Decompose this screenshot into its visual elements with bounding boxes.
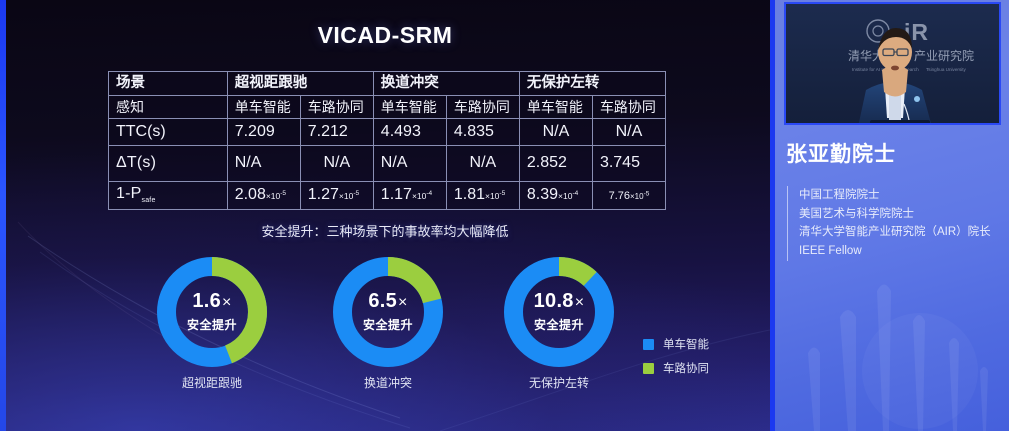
header-cell-perception: 感知: [109, 96, 228, 119]
donut-chart-3: 10.8× 安全提升 无保护左转: [503, 256, 615, 368]
cell-dt-4: N/A: [446, 146, 519, 182]
row-label-delta-t: ΔT(s): [109, 146, 228, 182]
legend-swatch-blue-icon: [643, 339, 654, 350]
psafe-3-times: ×10: [412, 191, 426, 201]
donut-3-blue-arc: [514, 267, 605, 358]
credential-item: 清华大学智能产业研究院（AIR）院长: [799, 223, 991, 242]
speaker-video-tile[interactable]: iR 清华大 产业研究院 Institute for AI Industry R…: [784, 2, 1001, 125]
cell-dt-1: N/A: [227, 146, 300, 182]
results-table: 场景 超视距跟驰 换道冲突 无保护左转 感知 单车智能 车路协同 单车智能 车路…: [108, 71, 666, 210]
cell-ttc-6: N/A: [592, 119, 665, 146]
cell-ttc-2: 7.212: [300, 119, 373, 146]
header-cell-perception-3: 单车智能: [373, 96, 446, 119]
presentation-slide: VICAD-SRM 场景 超视距跟驰 换道冲突 无保护左转 感知 单车智能 车路…: [0, 0, 770, 431]
psafe-4-mantissa: 1.81: [454, 186, 485, 203]
donut-1-caption: 超视距跟驰: [132, 374, 292, 391]
svg-text:Tsinghua University: Tsinghua University: [926, 67, 967, 72]
cell-psafe-1: 2.08×10-5: [227, 182, 300, 210]
header-cell-scenario: 场景: [109, 72, 228, 96]
psafe-4-exp: -5: [499, 190, 505, 197]
psafe-2-exp: -5: [353, 190, 359, 197]
psafe-3-mantissa: 1.17: [381, 186, 412, 203]
header-cell-perception-1: 单车智能: [227, 96, 300, 119]
table-row: ΔT(s) N/A N/A N/A N/A 2.852 3.745: [109, 146, 666, 182]
speaker-name: 张亚勤院士: [786, 138, 896, 168]
header-cell-perception-6: 车路协同: [592, 96, 665, 119]
cell-ttc-3: 4.493: [373, 119, 446, 146]
screenshot-root: VICAD-SRM 场景 超视距跟驰 换道冲突 无保护左转 感知 单车智能 车路…: [0, 0, 1009, 431]
psafe-1-exp: -5: [280, 190, 286, 197]
credential-item: 中国工程院院士: [799, 186, 991, 205]
cell-psafe-4: 1.81×10-5: [446, 182, 519, 210]
slide-title: VICAD-SRM: [0, 22, 770, 49]
donut-2-caption: 换道冲突: [308, 374, 468, 391]
header-cell-scenario-1: 超视距跟驰: [227, 72, 373, 96]
cell-ttc-4: 4.835: [446, 119, 519, 146]
legend-item-v2x-cooperation: 车路协同: [643, 360, 709, 376]
row-label-ttc: TTC(s): [109, 119, 228, 146]
donut-chart-2: 6.5× 安全提升 换道冲突: [332, 256, 444, 368]
psafe-6-exp: -5: [644, 191, 650, 198]
cell-psafe-5: 8.39×10-4: [519, 182, 592, 210]
donut-svg-2: [332, 256, 444, 368]
psafe-6-times: ×10: [630, 192, 644, 201]
cell-psafe-3: 1.17×10-4: [373, 182, 446, 210]
table-caption: 安全提升：三种场景下的事故率均大幅降低: [0, 221, 770, 240]
legend-label-2: 车路协同: [663, 360, 709, 376]
psafe-5-times: ×10: [558, 191, 572, 201]
psafe-label-main: 1-P: [116, 185, 142, 202]
legend-label-1: 单车智能: [663, 336, 709, 352]
cell-ttc-1: 7.209: [227, 119, 300, 146]
psafe-3-exp: -4: [426, 190, 432, 197]
psafe-label-sub: safe: [142, 198, 156, 205]
psafe-6-mantissa: 7.76: [609, 190, 630, 202]
cell-ttc-5: N/A: [519, 119, 592, 146]
header-cell-perception-2: 车路协同: [300, 96, 373, 119]
header-cell-scenario-3: 无保护左转: [519, 72, 665, 96]
table-row: 1-Psafe 2.08×10-5 1.27×10-5 1.17×10-4 1.…: [109, 182, 666, 210]
svg-text:产业研究院: 产业研究院: [914, 48, 974, 63]
psafe-5-mantissa: 8.39: [527, 186, 558, 203]
psafe-4-times: ×10: [485, 191, 499, 201]
cell-dt-2: N/A: [300, 146, 373, 182]
cell-psafe-2: 1.27×10-5: [300, 182, 373, 210]
psafe-1-mantissa: 2.08: [235, 186, 266, 203]
speaker-credentials: 中国工程院院士 美国艺术与科学院院士 清华大学智能产业研究院（AIR）院长 IE…: [787, 186, 991, 261]
results-table-container: 场景 超视距跟驰 换道冲突 无保护左转 感知 单车智能 车路协同 单车智能 车路…: [108, 71, 666, 210]
cell-dt-6: 3.745: [592, 146, 665, 182]
legend-item-vehicle-intelligence: 单车智能: [643, 336, 709, 352]
donut-svg-3: [503, 256, 615, 368]
psafe-1-times: ×10: [266, 191, 280, 201]
table-header-scenario-row: 场景 超视距跟驰 换道冲突 无保护左转: [109, 72, 666, 96]
header-cell-scenario-2: 换道冲突: [373, 72, 519, 96]
credential-item: 美国艺术与科学院院士: [799, 205, 991, 224]
psafe-2-mantissa: 1.27: [308, 186, 339, 203]
video-frame-content: iR 清华大 产业研究院 Institute for AI Industry R…: [786, 4, 1001, 125]
cell-dt-3: N/A: [373, 146, 446, 182]
speaker-info-panel: iR 清华大 产业研究院 Institute for AI Industry R…: [770, 0, 1009, 431]
header-cell-perception-5: 单车智能: [519, 96, 592, 119]
donut-svg-1: [156, 256, 268, 368]
psafe-2-times: ×10: [339, 191, 353, 201]
psafe-5-exp: -4: [572, 190, 578, 197]
legend-swatch-green-icon: [643, 363, 654, 374]
table-header-perception-row: 感知 单车智能 车路协同 单车智能 车路协同 单车智能 车路协同: [109, 96, 666, 119]
chart-legend: 单车智能 车路协同: [643, 336, 709, 384]
cell-dt-5: 2.852: [519, 146, 592, 182]
header-cell-perception-4: 车路协同: [446, 96, 519, 119]
cell-psafe-6: 7.76×10-5: [592, 182, 665, 210]
donut-chart-1: 1.6× 安全提升 超视距跟驰: [156, 256, 268, 368]
table-row: TTC(s) 7.209 7.212 4.493 4.835 N/A N/A: [109, 119, 666, 146]
credential-item: IEEE Fellow: [799, 242, 991, 261]
donut-3-caption: 无保护左转: [479, 374, 639, 391]
row-label-psafe: 1-Psafe: [109, 182, 228, 210]
